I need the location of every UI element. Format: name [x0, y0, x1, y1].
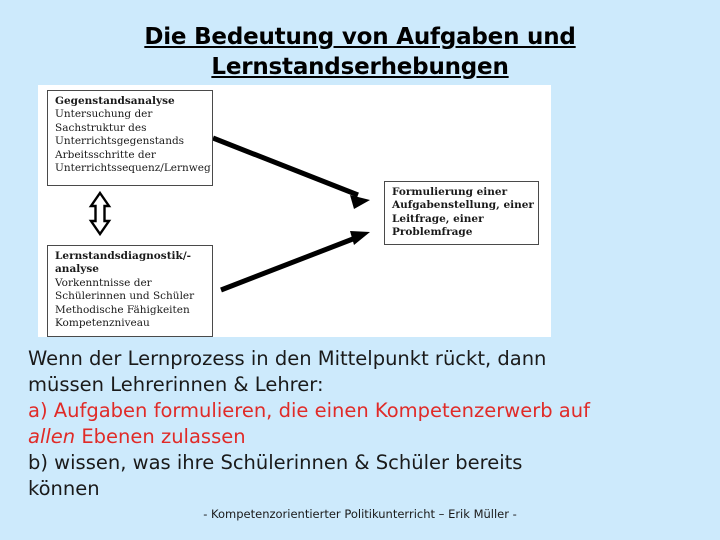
diagram-box-formulierung: Formulierung einer Aufgabenstellung, ein… — [384, 181, 539, 245]
body-text-block: Wenn der Lernprozess in den Mittelpunkt … — [28, 346, 692, 502]
box-line: Vorkenntnisse der — [55, 277, 152, 289]
body-line-4: allen Ebenen zulassen — [28, 424, 692, 450]
body-line-6: können — [28, 476, 692, 502]
page-title: Die Bedeutung von Aufgaben und Lernstand… — [60, 22, 660, 82]
arrow-bottom-to-right-icon — [221, 231, 370, 290]
double-headed-vertical-arrow-icon — [91, 193, 109, 234]
body-line-5: b) wissen, was ihre Schülerinnen & Schül… — [28, 450, 692, 476]
diagram-box-lernstandsdiagnostik: Lernstandsdiagnostik/- analyse Vorkenntn… — [47, 245, 213, 337]
body-line-2: müssen Lehrerinnen & Lehrer: — [28, 372, 692, 398]
body-line-1: Wenn der Lernprozess in den Mittelpunkt … — [28, 346, 692, 372]
box-line: Leitfrage, einer — [392, 213, 532, 226]
box-line: Unterrichtssequenz/Lernweg — [55, 162, 211, 174]
arrow-top-to-right-icon — [213, 138, 370, 209]
box-line: Arbeitsschritte der — [55, 149, 156, 161]
box-line: Aufgabenstellung, einer — [392, 199, 532, 212]
box-line: Schülerinnen und Schüler — [55, 290, 194, 302]
box-heading-line-2: analyse — [55, 263, 99, 275]
box-heading: Gegenstandsanalyse — [55, 95, 175, 107]
body-line-3: a) Aufgaben formulieren, die einen Kompe… — [28, 398, 692, 424]
box-line: Formulierung einer — [392, 186, 532, 199]
page-title-line-2: Lernstandserhebungen — [211, 54, 508, 80]
box-line: Methodische Fähigkeiten — [55, 304, 190, 316]
box-line: Untersuchung der — [55, 108, 152, 120]
body-line-4-emphasis: allen — [28, 425, 75, 448]
box-line: Problemfrage — [392, 226, 532, 239]
box-line: Sachstruktur des — [55, 122, 147, 134]
slide-canvas: Die Bedeutung von Aufgaben und Lernstand… — [0, 0, 720, 540]
page-title-line-1: Die Bedeutung von Aufgaben und — [144, 24, 575, 50]
box-line: Unterrichtsgegenstands — [55, 135, 184, 147]
slide-footer: - Kompetenzorientierter Politikunterrich… — [0, 507, 720, 521]
diagram-box-gegenstandsanalyse: Gegenstandsanalyse Untersuchung der Sach… — [47, 90, 213, 186]
body-line-4-rest: Ebenen zulassen — [75, 425, 245, 448]
box-line: Kompetenzniveau — [55, 317, 150, 329]
box-heading-line-1: Lernstandsdiagnostik/- — [55, 250, 191, 262]
diagram-panel: Gegenstandsanalyse Untersuchung der Sach… — [38, 85, 551, 337]
